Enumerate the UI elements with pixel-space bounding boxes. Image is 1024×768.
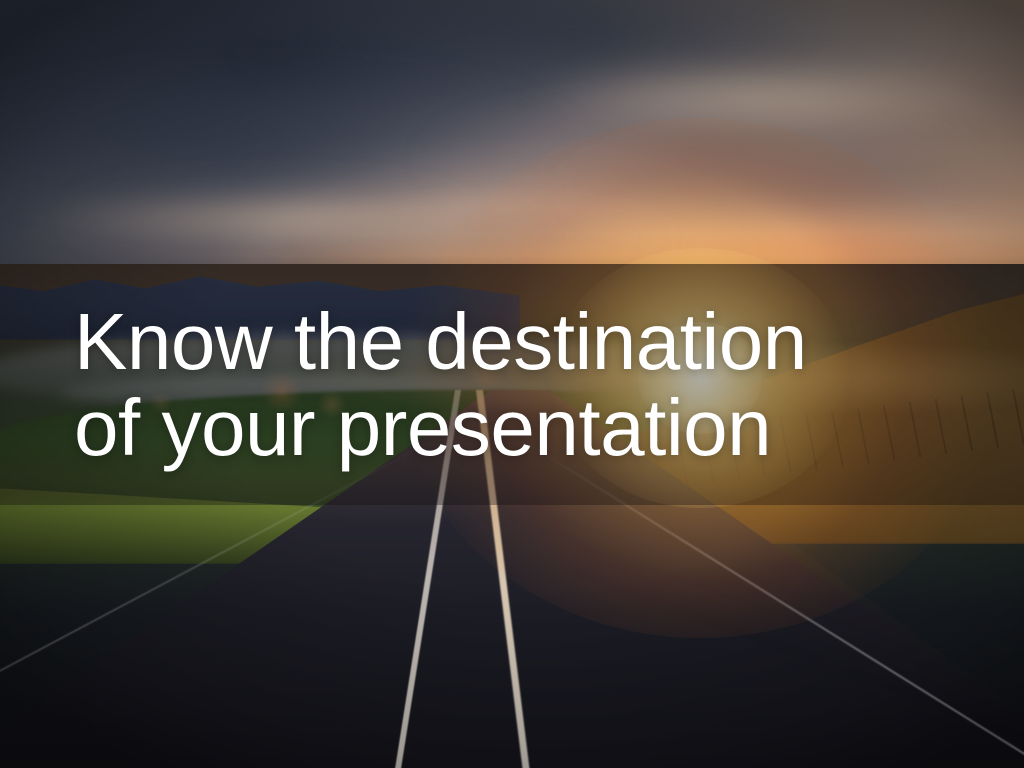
cloud-streak — [520, 60, 1020, 130]
presentation-slide: Know the destination of your presentatio… — [0, 0, 1024, 768]
slide-headline: Know the destination of your presentatio… — [0, 264, 1024, 505]
headline-line-1: Know the destination — [74, 299, 984, 385]
headline-line-2: of your presentation — [74, 385, 984, 471]
